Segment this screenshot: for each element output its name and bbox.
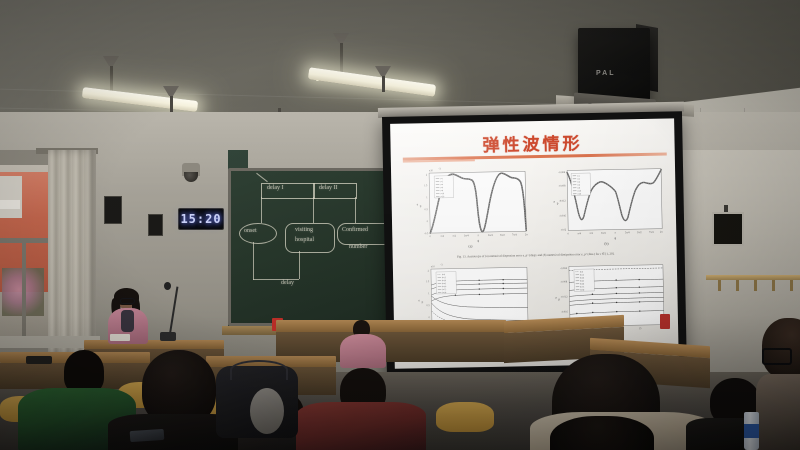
- coat-hook[interactable]: [718, 280, 721, 291]
- svg-text:θ: θ: [615, 237, 617, 241]
- window-view-balcony: [0, 200, 20, 209]
- svg-text:r=4: r=4: [577, 182, 580, 184]
- svg-text:π: π: [478, 234, 480, 237]
- svg-text:π/2: π/2: [453, 235, 457, 238]
- svg-text:θ=60: θ=60: [442, 286, 446, 288]
- lecture-notes-paper[interactable]: [110, 334, 130, 341]
- chalk-connector: [355, 197, 356, 223]
- svg-text:-0.02: -0.02: [561, 228, 567, 231]
- svg-text:1.5: 1.5: [424, 184, 428, 187]
- desk-row-far-top: [276, 320, 506, 332]
- chalk-note-delay-1: delay I: [267, 185, 284, 191]
- chalk-note-onset: onset: [244, 228, 257, 234]
- svg-text:θ=0: θ=0: [580, 271, 583, 273]
- svg-text:π: π: [615, 232, 617, 235]
- ceiling-speaker-box: [578, 28, 650, 100]
- svg-text:-3: -3: [438, 167, 441, 170]
- chalk-note-hospital: hospital: [295, 237, 314, 243]
- svg-text:θ: θ: [478, 239, 480, 243]
- keyboard-on-desk[interactable]: [26, 356, 52, 364]
- svg-text:r=6: r=6: [440, 187, 443, 189]
- svg-text:p: p: [422, 300, 424, 304]
- svg-text:0: 0: [429, 316, 431, 319]
- seat[interactable]: [436, 402, 494, 432]
- svg-text:2: 2: [428, 270, 430, 273]
- svg-text:5π/4: 5π/4: [625, 231, 630, 234]
- svg-text:θ=30: θ=30: [442, 280, 446, 282]
- chalk-note-visiting: visiting: [295, 227, 313, 233]
- svg-text:3π/4: 3π/4: [464, 234, 469, 237]
- chalk-connector: [261, 197, 262, 223]
- svg-text:15: 15: [639, 327, 642, 330]
- svg-text:0: 0: [568, 232, 570, 235]
- svg-text:3π/4: 3π/4: [601, 232, 606, 235]
- coat-hook[interactable]: [736, 280, 739, 291]
- svg-text:r=6: r=6: [577, 185, 580, 187]
- wall-speaker-left: [104, 196, 122, 224]
- coat-hook[interactable]: [772, 280, 775, 291]
- chalk-note-confirmed: Confirmed: [342, 227, 368, 233]
- svg-text:-0.012: -0.012: [561, 295, 568, 298]
- svg-text:0: 0: [430, 235, 432, 238]
- coat-hook[interactable]: [790, 280, 793, 291]
- svg-text:e: e: [554, 200, 556, 204]
- backpack-strap: [230, 360, 288, 380]
- window-mullion: [0, 238, 52, 243]
- chalk-note-number: number: [349, 244, 367, 250]
- chart-top-right-svg: -0.004 -0.008 -0.012 -0.016 -0.02 0 π/4 …: [543, 163, 669, 249]
- svg-text:r=10: r=10: [577, 190, 581, 192]
- svg-text:2π: 2π: [660, 231, 663, 234]
- chart-top-left-svg: x10 -3 -0.5 0 0.5 1 1.5 2 0 π/4 π/2 3π/4: [407, 165, 533, 251]
- svg-text:-0.016: -0.016: [561, 310, 568, 313]
- svg-text:0: 0: [427, 220, 429, 223]
- svg-text:θ=45: θ=45: [442, 283, 446, 285]
- svg-text:θ=90: θ=90: [442, 292, 446, 294]
- svg-text:r=20: r=20: [578, 193, 582, 195]
- svg-text:r=8: r=8: [440, 190, 443, 192]
- svg-text:2π: 2π: [525, 233, 528, 236]
- svg-text:r=8: r=8: [577, 188, 580, 190]
- blackboard: delay I delay II onset visiting hospital…: [231, 171, 403, 323]
- student-glasses: [762, 348, 792, 365]
- projector-brand-label: PAL: [596, 70, 615, 77]
- coat-hook[interactable]: [754, 280, 757, 291]
- beanie-hat: [250, 388, 284, 434]
- svg-text:0.5: 0.5: [426, 304, 430, 307]
- svg-text:-3: -3: [440, 263, 443, 266]
- svg-text:1: 1: [426, 196, 428, 199]
- svg-text:-0.5: -0.5: [424, 232, 429, 235]
- svg-text:-0.008: -0.008: [559, 184, 566, 187]
- svg-text:-0.012: -0.012: [559, 199, 566, 202]
- svg-text:-0.004: -0.004: [560, 267, 567, 270]
- lecturer-glasses: [120, 298, 135, 304]
- svg-text:θ=75: θ=75: [580, 286, 584, 288]
- chalk-connector: [313, 197, 314, 223]
- chart-top-right: -0.004 -0.008 -0.012 -0.016 -0.02 0 π/4 …: [543, 163, 669, 249]
- lecture-hall-screenshot: 15:20 delay I delay II onset visiting ho…: [0, 0, 800, 450]
- svg-text:x10: x10: [429, 169, 434, 172]
- svg-text:π/4: π/4: [441, 235, 445, 238]
- svg-text:7π/4: 7π/4: [649, 231, 654, 234]
- smartphone-on-desk[interactable]: [130, 429, 165, 442]
- svg-text:2: 2: [426, 174, 428, 177]
- svg-text:7π/4: 7π/4: [512, 233, 517, 236]
- student-torso: [340, 334, 386, 368]
- window-mullion: [22, 243, 26, 338]
- chalk-note-delay-2: delay II: [319, 185, 338, 191]
- svg-text:θ=15: θ=15: [580, 274, 584, 276]
- student-maroon-coat: [296, 382, 426, 450]
- water-bottle-label: [744, 424, 759, 438]
- svg-text:5π/4: 5π/4: [488, 234, 493, 237]
- svg-text:π/4: π/4: [578, 232, 582, 235]
- student-torso: [756, 374, 800, 450]
- svg-text:r=2: r=2: [577, 179, 580, 181]
- chalk-arrow: [256, 173, 268, 182]
- svg-text:3π/2: 3π/2: [500, 234, 505, 237]
- svg-text:-0.004: -0.004: [558, 171, 565, 174]
- chalk-loop: [299, 251, 300, 279]
- chalk-note-delay-bottom: delay: [281, 280, 294, 286]
- wall-monitor: [712, 212, 744, 246]
- svg-text:π/2: π/2: [590, 232, 594, 235]
- svg-text:r=2: r=2: [440, 181, 443, 183]
- svg-text:θ=90: θ=90: [580, 289, 584, 291]
- svg-text:r=10: r=10: [440, 193, 444, 195]
- microphone-head: [164, 282, 171, 290]
- student-torso: [296, 402, 426, 450]
- student-far-pink: [340, 332, 386, 368]
- svg-text:r=1: r=1: [577, 176, 580, 178]
- chart-top-left: x10 -3 -0.5 0 0.5 1 1.5 2 0 π/4 π/2 3π/4: [407, 165, 533, 251]
- clock-time: 15:20: [180, 212, 221, 226]
- svg-text:θ=60: θ=60: [580, 283, 584, 285]
- student-far-right-glasses: [756, 318, 800, 450]
- svg-text:x10: x10: [431, 265, 436, 268]
- lecturer-scarf: [121, 310, 134, 332]
- svg-text:-0.016: -0.016: [559, 214, 566, 217]
- svg-text:θ=0: θ=0: [442, 274, 445, 276]
- svg-text:3π/2: 3π/2: [637, 231, 642, 234]
- microphone-base[interactable]: [160, 332, 176, 341]
- slide-title-rule-accent: [403, 159, 475, 162]
- chalk-loop: [253, 242, 254, 280]
- svg-text:0.5: 0.5: [425, 208, 429, 211]
- window-curtain[interactable]: [48, 150, 96, 352]
- svg-text:r=4: r=4: [440, 184, 443, 186]
- wall-speaker-left-2: [148, 214, 163, 236]
- svg-text:1.5: 1.5: [426, 280, 430, 283]
- svg-text:p: p: [420, 204, 422, 208]
- svg-text:e: e: [418, 298, 420, 302]
- wall-digital-clock: 15:20: [178, 208, 224, 230]
- svg-text:r=1: r=1: [440, 178, 443, 180]
- dome-camera: [182, 163, 200, 176]
- svg-text:1: 1: [428, 292, 430, 295]
- svg-text:θ=30: θ=30: [580, 277, 584, 279]
- svg-text:θ=15: θ=15: [442, 277, 446, 279]
- figure-caption-top: Fig. 13. Anisotropy of (a) numerical dis…: [403, 251, 669, 260]
- svg-text:θ=45: θ=45: [580, 280, 584, 282]
- student-hair-over-jacket: [550, 416, 654, 450]
- window-view-white-wall: [0, 176, 22, 218]
- svg-text:e: e: [417, 202, 419, 206]
- svg-text:θ=75: θ=75: [442, 289, 446, 291]
- svg-text:r=20: r=20: [441, 196, 445, 198]
- svg-text:-0.008: -0.008: [560, 280, 567, 283]
- svg-text:e: e: [555, 296, 557, 300]
- red-box-on-desk[interactable]: [660, 314, 670, 329]
